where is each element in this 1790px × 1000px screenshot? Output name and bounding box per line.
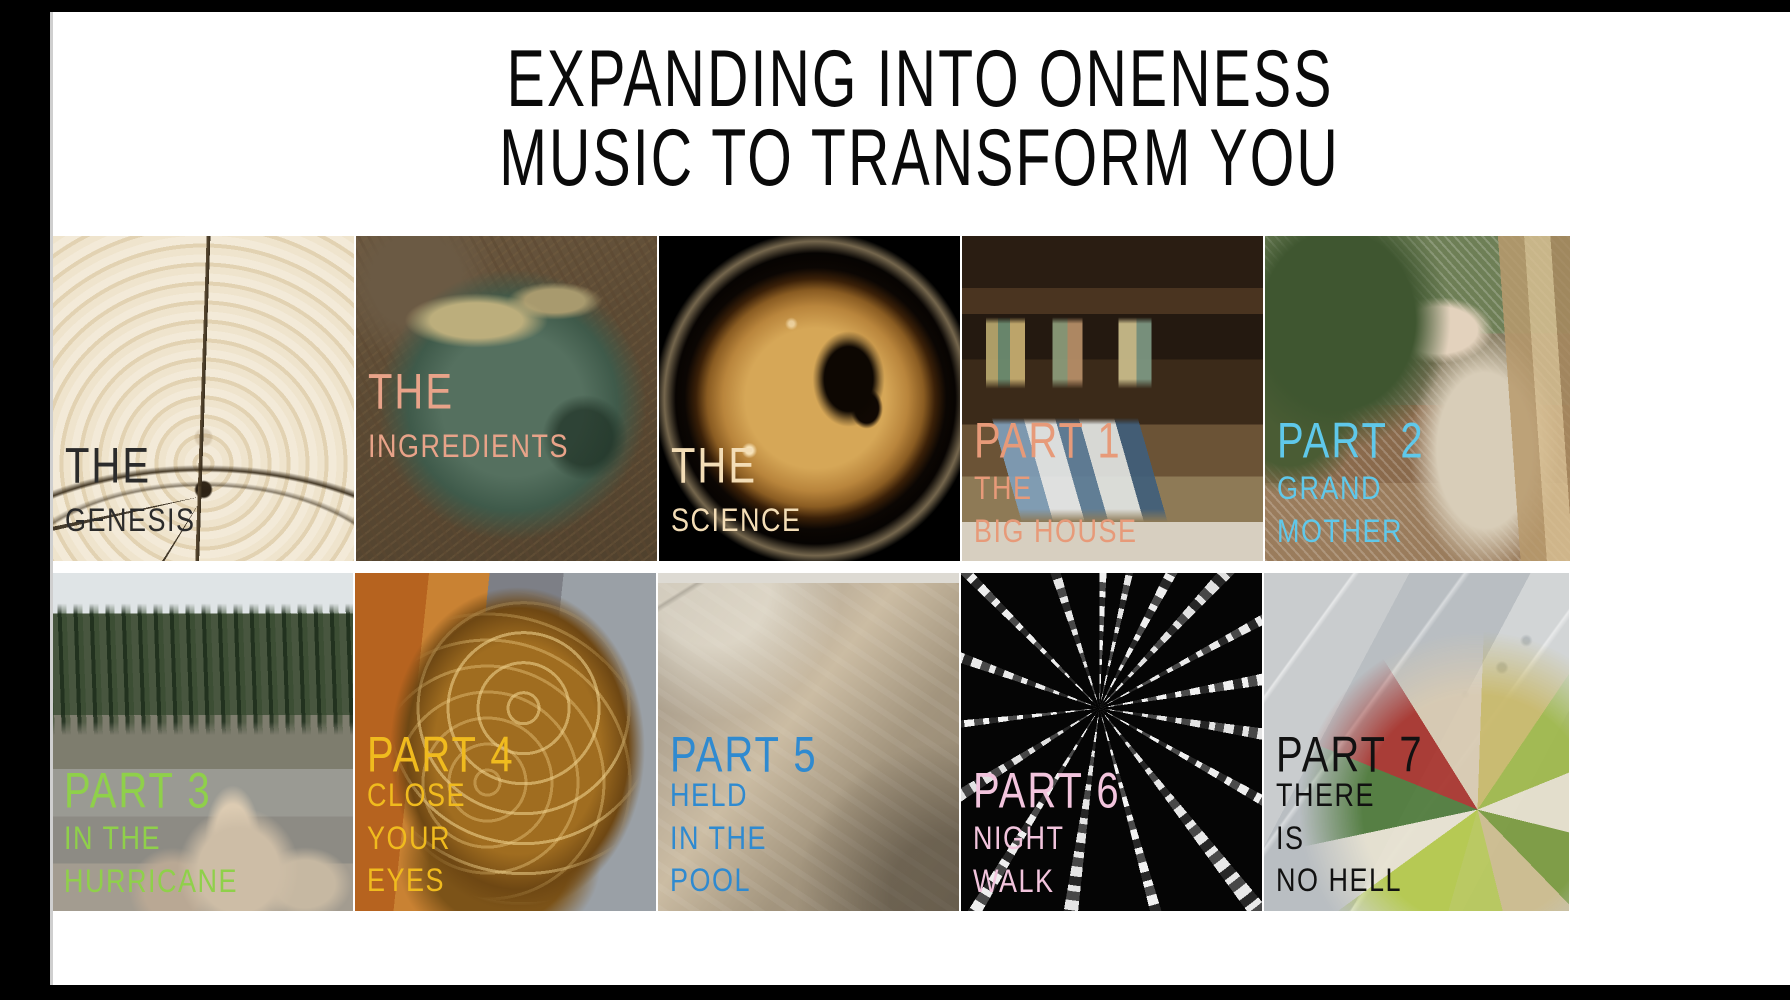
chapter-tile-ingredients[interactable]: THEINGREDIENTS — [356, 236, 657, 561]
chapter-tile-genesis[interactable]: THEGENESIS — [53, 236, 354, 561]
chapter-tile-close-your-eyes[interactable]: PART 4CLOSEYOUREYES — [355, 573, 656, 911]
chapter-thumbnail-image-ingredients — [356, 236, 657, 561]
chapter-tile-hurricane[interactable]: PART 3IN THEHURRICANE — [52, 573, 353, 911]
chapter-tile-grandmother[interactable]: PART 2GRANDMOTHER — [1265, 236, 1570, 561]
chapter-thumbnail-image-night-walk — [961, 573, 1262, 911]
chapter-tile-science[interactable]: THESCIENCE — [659, 236, 960, 561]
page-title-secondary: MUSIC TO TRANSFORM YOU — [500, 119, 1341, 198]
chapter-tile-held-in-the-pool[interactable]: PART 5HELDIN THEPOOL — [658, 573, 959, 911]
slide-title-block: EXPANDING INTO ONENESS MUSIC TO TRANSFOR… — [50, 12, 1790, 222]
chapter-tile-big-house[interactable]: PART 1THEBIG HOUSE — [962, 236, 1263, 561]
chapter-thumbnail-image-held-in-the-pool — [658, 573, 959, 911]
page-title-primary: EXPANDING INTO ONENESS — [507, 40, 1334, 119]
row-separator — [50, 561, 1790, 573]
chapter-thumbnail-image-big-house — [962, 236, 1263, 561]
chapter-tile-there-is-no-hell[interactable]: PART 7THEREISNO HELL — [1264, 573, 1569, 911]
slide-content-surface: EXPANDING INTO ONENESS MUSIC TO TRANSFOR… — [50, 12, 1790, 985]
chapter-thumbnail-image-grandmother — [1265, 236, 1570, 561]
chapter-thumbnail-image-there-is-no-hell — [1264, 573, 1569, 911]
slide-letterbox-frame: EXPANDING INTO ONENESS MUSIC TO TRANSFOR… — [0, 0, 1790, 1000]
thumbnail-row-top: THEGENESISTHEINGREDIENTSTHESCIENCEPART 1… — [50, 236, 1790, 561]
thumbnail-row-bottom: PART 3IN THEHURRICANEPART 4CLOSEYOUREYES… — [50, 573, 1790, 911]
chapter-thumbnail-grid: THEGENESISTHEINGREDIENTSTHESCIENCEPART 1… — [50, 236, 1790, 985]
chapter-tile-night-walk[interactable]: PART 6NIGHTWALK — [961, 573, 1262, 911]
chapter-thumbnail-image-hurricane — [52, 573, 353, 911]
chapter-thumbnail-image-science — [659, 236, 960, 561]
chapter-thumbnail-image-genesis — [53, 236, 354, 561]
chapter-thumbnail-image-close-your-eyes — [355, 573, 656, 911]
